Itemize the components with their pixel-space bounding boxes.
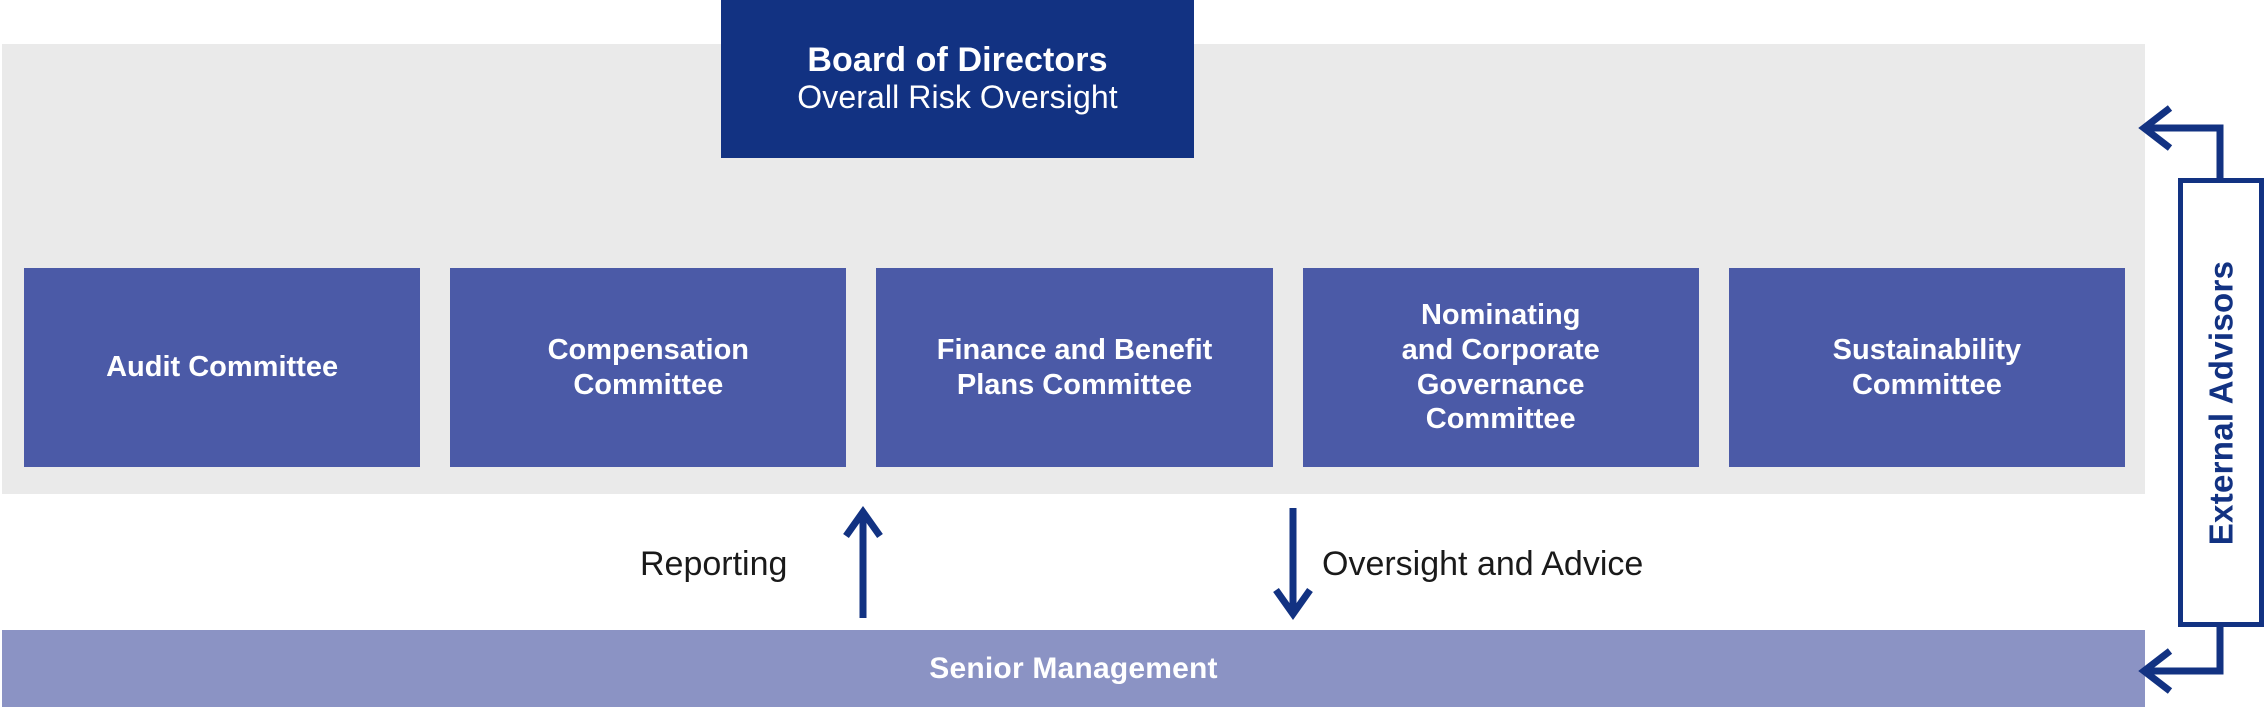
- board-subtitle: Overall Risk Oversight: [797, 79, 1118, 116]
- committee-box-finance-and-benefit-plans[interactable]: Finance and Benefit Plans Committee: [876, 268, 1272, 467]
- oversight-down-arrow-icon: [1270, 500, 1330, 625]
- committee-box-compensation[interactable]: Compensation Committee: [450, 268, 846, 467]
- board-title: Board of Directors: [807, 41, 1107, 79]
- reporting-up-arrow-icon: [840, 500, 900, 625]
- committee-row: Audit Committee Compensation Committee F…: [24, 268, 2125, 467]
- external-advisors-box[interactable]: External Advisors: [2178, 178, 2264, 627]
- committee-box-nominating-and-corporate-governance[interactable]: Nominating and Corporate Governance Comm…: [1303, 268, 1699, 467]
- governance-diagram: Board of Directors Overall Risk Oversigh…: [0, 0, 2267, 707]
- external-advisors-label: External Advisors: [2202, 260, 2240, 545]
- committee-box-sustainability[interactable]: Sustainability Committee: [1729, 268, 2125, 467]
- committee-box-audit[interactable]: Audit Committee: [24, 268, 420, 467]
- reporting-label: Reporting: [640, 547, 787, 581]
- advisors-to-senior-management-arrow-icon: [2144, 627, 2220, 691]
- board-of-directors-box[interactable]: Board of Directors Overall Risk Oversigh…: [721, 0, 1194, 158]
- oversight-and-advice-label: Oversight and Advice: [1322, 547, 1643, 581]
- senior-management-label: Senior Management: [929, 652, 1217, 686]
- advisors-to-board-arrow-icon: [2144, 108, 2220, 180]
- senior-management-bar[interactable]: Senior Management: [2, 630, 2145, 707]
